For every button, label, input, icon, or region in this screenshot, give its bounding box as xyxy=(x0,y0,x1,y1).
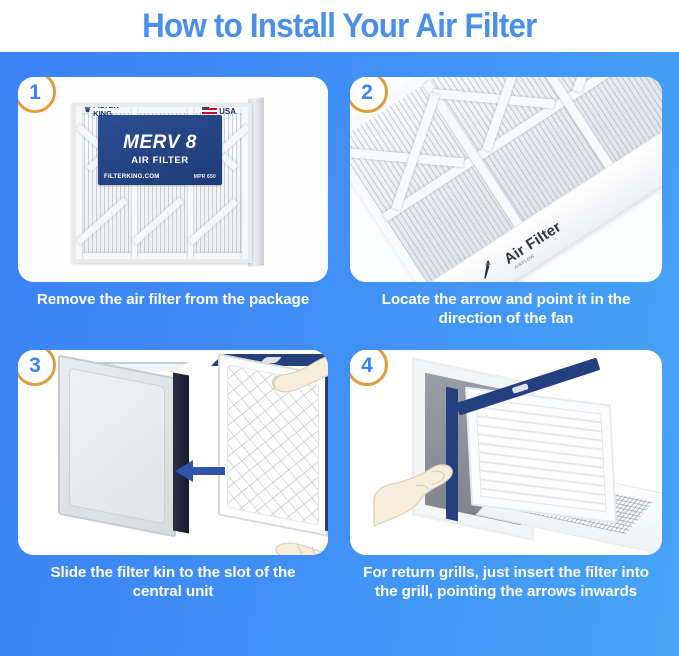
step-3: 3 Slide the filter kin to the slot of th… xyxy=(18,350,328,646)
brand-line-2: KING xyxy=(93,109,112,118)
inserting-filter-into-return-grill-illustration xyxy=(350,350,662,555)
grill-louvers xyxy=(476,398,607,512)
infographic-root: How to Install Your Air Filter xyxy=(0,0,679,656)
step-1-caption: Remove the air filter from the package xyxy=(18,291,328,310)
steps-board: ♛ FILTER KING xyxy=(0,52,679,656)
step-2-image-card: Air Filter AIRFLOW 2 xyxy=(350,77,662,282)
steps-grid: ♛ FILTER KING xyxy=(0,52,679,656)
direction-arrow-icon xyxy=(173,458,225,484)
filter-frame: ♛ FILTER KING xyxy=(72,103,252,263)
filter-brand-label: ♛ FILTER KING xyxy=(98,115,222,185)
step-4: 4 For return grills, just insert the fil… xyxy=(350,350,662,646)
made-in-usa-badge: MADE IN USA xyxy=(202,104,236,114)
product-type: AIR FILTER xyxy=(98,155,222,166)
filter-edge-arrow-photo: Air Filter AIRFLOW xyxy=(350,77,662,282)
filter-brand-row: ♛ FILTER KING xyxy=(84,103,236,116)
mpr-rating: MPR 650 xyxy=(194,174,216,180)
angled-filter: Air Filter AIRFLOW xyxy=(350,77,662,282)
hand-inserting xyxy=(372,442,484,528)
header: How to Install Your Air Filter xyxy=(0,0,679,52)
page-title: How to Install Your Air Filter xyxy=(142,9,536,43)
us-flag-icon xyxy=(202,104,217,114)
step-4-caption: For return grills, just insert the filte… xyxy=(350,564,662,601)
central-unit-body xyxy=(58,355,176,538)
hand-top xyxy=(268,350,328,412)
label-footer: FILTERKING.COM MPR 650 xyxy=(104,173,216,180)
step-2-caption: Locate the arrow and point it in the dir… xyxy=(350,291,662,328)
step-3-image-card: 3 xyxy=(18,350,328,555)
hand-bottom xyxy=(274,510,328,555)
unit-slot-opening xyxy=(173,372,189,533)
air-filter-product-photo: ♛ FILTER KING xyxy=(18,77,328,282)
filter-king-logo: ♛ FILTER KING xyxy=(84,103,119,117)
country-text: USA xyxy=(219,108,236,115)
step-4-image-card: 4 xyxy=(350,350,662,555)
brand-website: FILTERKING.COM xyxy=(104,173,160,180)
airflow-arrow-icon xyxy=(474,257,499,282)
sliding-filter-into-central-unit-illustration xyxy=(18,350,328,555)
step-3-caption: Slide the filter kin to the slot of the … xyxy=(18,564,328,601)
filter-photo: ♛ FILTER KING xyxy=(72,99,264,267)
step-1: ♛ FILTER KING xyxy=(18,77,328,335)
step-1-image-card: ♛ FILTER KING xyxy=(18,77,328,282)
grill-door xyxy=(465,387,617,524)
crown-icon: ♛ xyxy=(84,106,91,114)
step-2: Air Filter AIRFLOW 2 Locate the arrow an… xyxy=(350,77,662,335)
merv-rating: MERV 8 xyxy=(98,133,222,152)
